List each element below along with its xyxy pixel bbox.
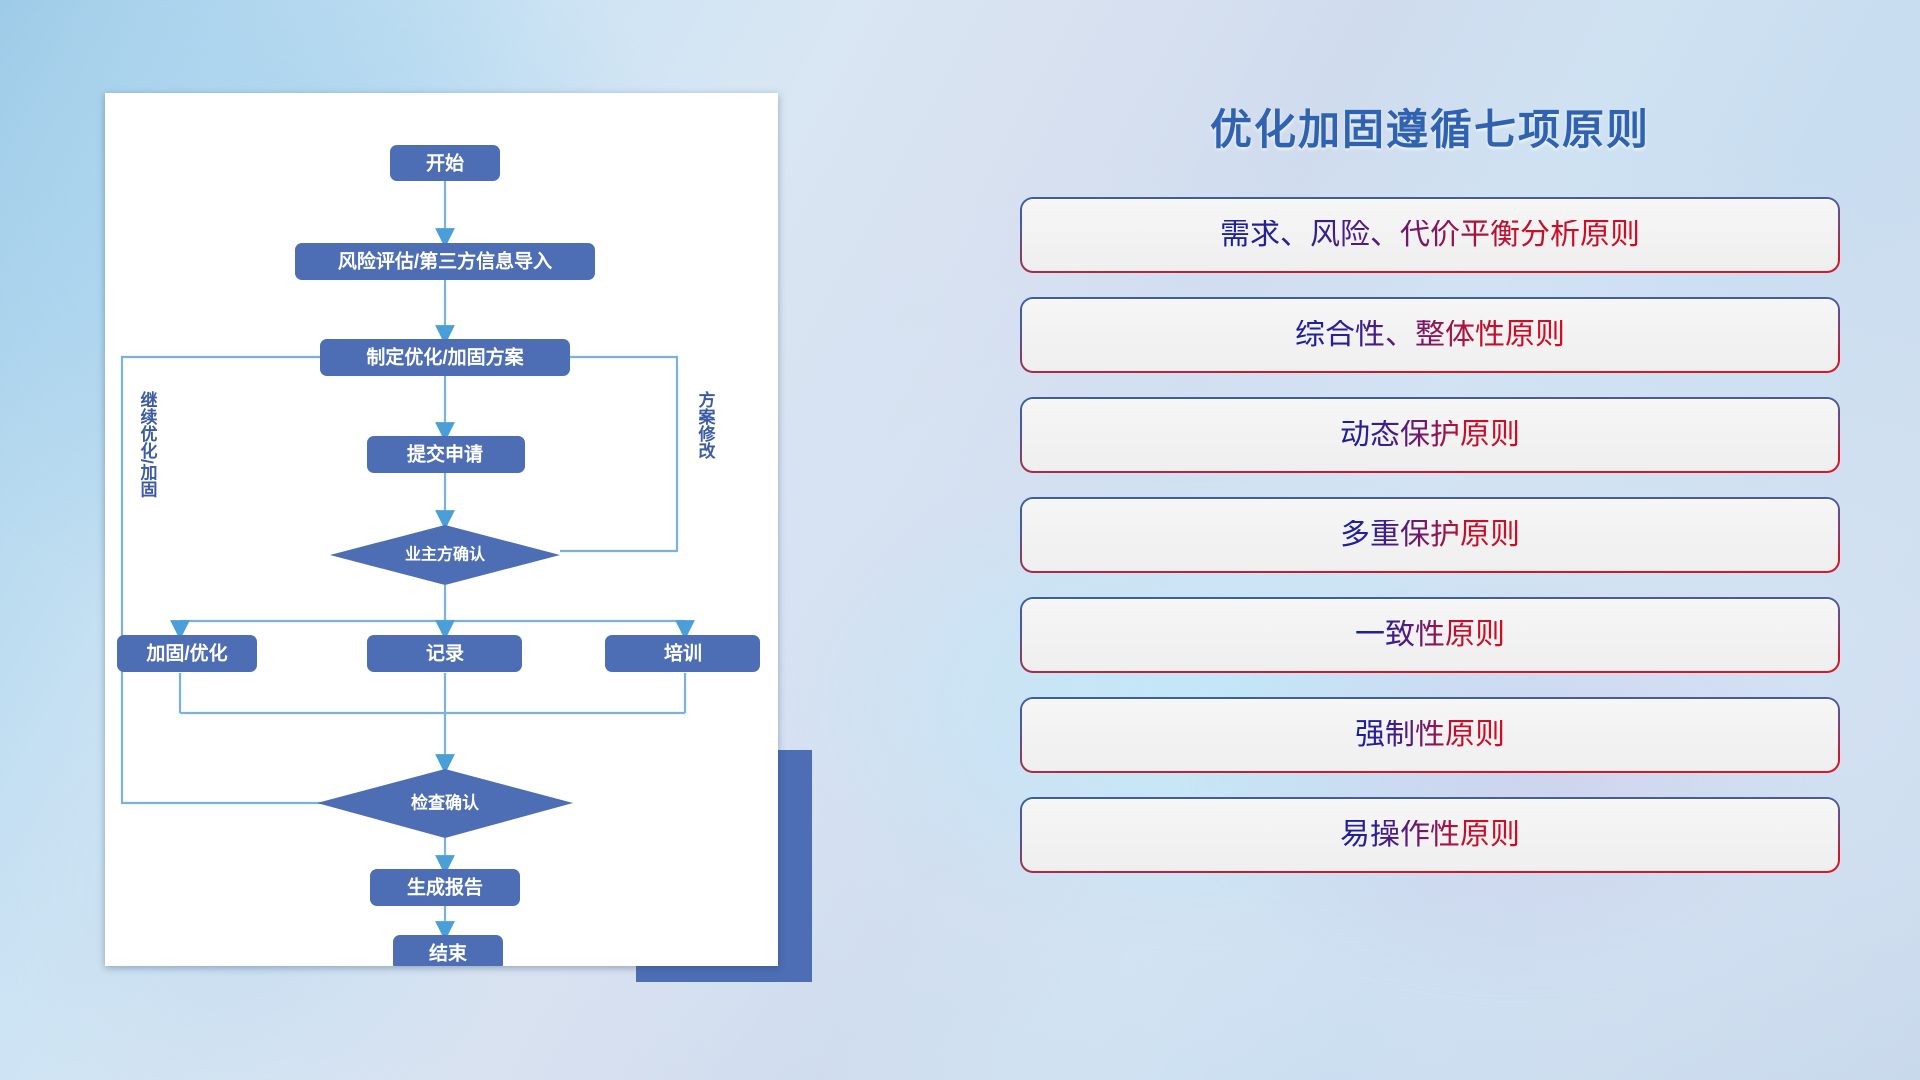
flow-node-training-label: 培训 <box>664 642 702 665</box>
flow-node-owner-confirm[interactable]: 业主方确认 <box>330 525 560 585</box>
flow-node-end-label: 结束 <box>429 942 468 965</box>
flow-node-record-label: 记录 <box>426 643 464 665</box>
flow-edge-label-plan-revision: 方案修改 <box>696 390 717 460</box>
principle-item-1-surface: 需求、风险、代价平衡分析原则 <box>1022 199 1838 271</box>
flow-node-reinforce-optimize-label: 加固/优化 <box>145 642 227 665</box>
flow-node-start[interactable]: 开始 <box>390 145 500 181</box>
principles-panel: 优化加固遵循七项原则 需求、风险、代价平衡分析原则 综合性、整体性原则 动态保护… <box>1020 96 1840 986</box>
principles-list: 需求、风险、代价平衡分析原则 综合性、整体性原则 动态保护原则 多重保护原则 一… <box>1020 197 1840 873</box>
flow-node-make-plan[interactable]: 制定优化/加固方案 <box>320 339 570 376</box>
principle-item-3-surface: 动态保护原则 <box>1022 399 1838 471</box>
principle-item-2-surface: 综合性、整体性原则 <box>1022 299 1838 371</box>
flow-edge-label-continue-optimize: 继续优化/加固 <box>138 390 159 499</box>
flow-node-risk-assessment-label: 风险评估/第三方信息导入 <box>338 250 552 273</box>
flow-node-risk-assessment[interactable]: 风险评估/第三方信息导入 <box>295 243 595 280</box>
principle-item-4[interactable]: 多重保护原则 <box>1020 497 1840 573</box>
flow-node-record[interactable]: 记录 <box>367 635 522 672</box>
principle-item-3-label: 动态保护原则 <box>1340 420 1520 450</box>
principle-item-2[interactable]: 综合性、整体性原则 <box>1020 297 1840 373</box>
principle-item-7-label: 易操作性原则 <box>1340 820 1520 850</box>
flow-node-owner-confirm-label: 业主方确认 <box>405 545 486 564</box>
flow-node-training[interactable]: 培训 <box>605 635 760 672</box>
principle-item-2-label: 综合性、整体性原则 <box>1295 320 1565 350</box>
flowchart-card: 开始 风险评估/第三方信息导入 制定优化/加固方案 提交申请 业主方确认 加固/… <box>105 93 778 966</box>
flow-node-check-confirm-label: 检查确认 <box>411 793 480 813</box>
principle-item-1[interactable]: 需求、风险、代价平衡分析原则 <box>1020 197 1840 273</box>
flowchart-diagram: 开始 风险评估/第三方信息导入 制定优化/加固方案 提交申请 业主方确认 加固/… <box>105 93 778 966</box>
principle-item-5-label: 一致性原则 <box>1355 620 1505 650</box>
principle-item-6[interactable]: 强制性原则 <box>1020 697 1840 773</box>
principle-item-7-surface: 易操作性原则 <box>1022 799 1838 871</box>
principle-item-4-label: 多重保护原则 <box>1340 520 1520 550</box>
principle-item-5[interactable]: 一致性原则 <box>1020 597 1840 673</box>
principle-item-1-label: 需求、风险、代价平衡分析原则 <box>1220 220 1640 250</box>
principle-item-3[interactable]: 动态保护原则 <box>1020 397 1840 473</box>
flow-node-submit-application-label: 提交申请 <box>407 443 483 466</box>
flow-node-start-label: 开始 <box>426 152 464 175</box>
principle-item-5-surface: 一致性原则 <box>1022 599 1838 671</box>
flow-node-generate-report[interactable]: 生成报告 <box>370 869 520 906</box>
page-title: 优化加固遵循七项原则 <box>1020 96 1840 157</box>
principle-item-6-label: 强制性原则 <box>1355 720 1505 750</box>
flow-node-make-plan-label: 制定优化/加固方案 <box>366 346 524 369</box>
principle-item-6-surface: 强制性原则 <box>1022 699 1838 771</box>
principle-item-4-surface: 多重保护原则 <box>1022 499 1838 571</box>
flow-node-submit-application[interactable]: 提交申请 <box>367 436 525 473</box>
flow-node-check-confirm[interactable]: 检查确认 <box>317 769 573 838</box>
flow-node-end[interactable]: 结束 <box>393 935 503 966</box>
principle-item-7[interactable]: 易操作性原则 <box>1020 797 1840 873</box>
flow-node-generate-report-label: 生成报告 <box>407 876 483 899</box>
flow-node-reinforce-optimize[interactable]: 加固/优化 <box>117 635 257 672</box>
